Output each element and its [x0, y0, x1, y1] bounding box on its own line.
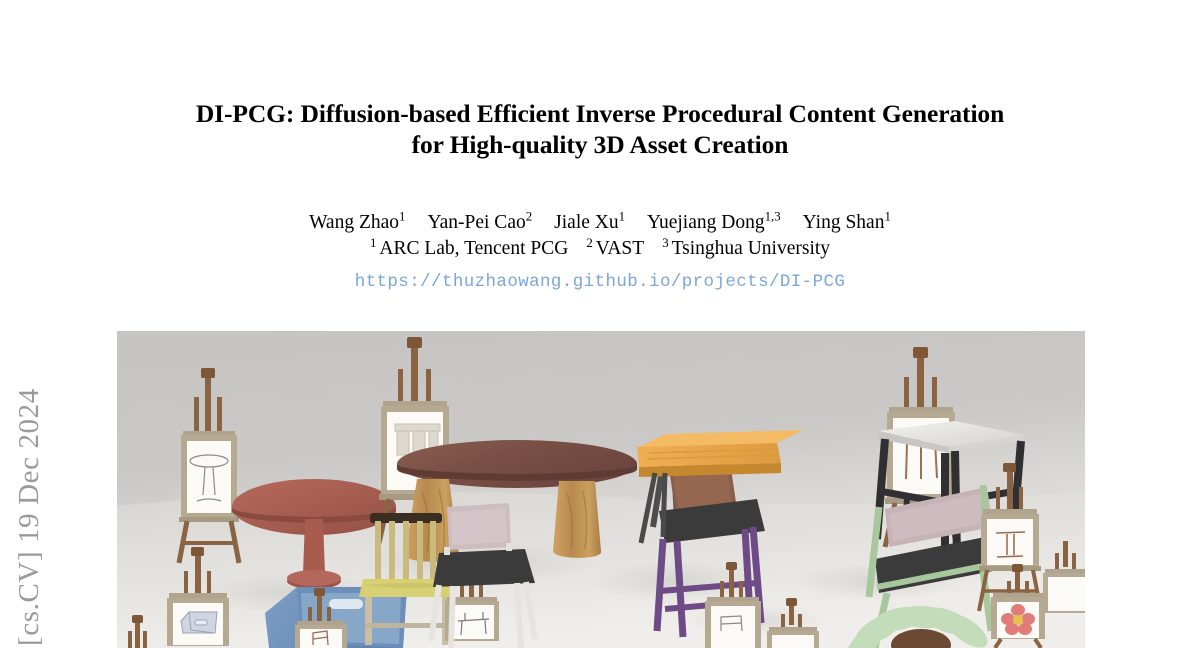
paper-title-line-1: DI-PCG: Diffusion-based Efficient Invers… — [100, 98, 1100, 129]
affiliation-marker: 2 — [586, 236, 592, 250]
authors-block: Wang Zhao1Yan-Pei Cao2Jiale Xu1Yuejiang … — [100, 210, 1100, 261]
author-entry: Yuejiang Dong1,3 — [647, 210, 781, 235]
author-affil-marker: 1 — [619, 210, 625, 224]
affiliation-entry: 2VAST — [586, 236, 644, 261]
affiliation-marker: 3 — [662, 236, 668, 250]
sketch-basket — [181, 612, 217, 633]
teaser-figure — [117, 331, 1085, 648]
affiliation-list: 1ARC Lab, Tencent PCG2VAST3Tsinghua Univ… — [100, 236, 1100, 261]
page-title: DI-PCG: Diffusion-based Efficient Invers… — [100, 98, 1100, 160]
author-name: Wang Zhao — [309, 212, 399, 233]
affiliation-marker: 1 — [370, 236, 376, 250]
affiliation-name: ARC Lab, Tencent PCG — [379, 238, 568, 259]
author-name: Ying Shan — [803, 212, 885, 233]
author-entry: Jiale Xu1 — [554, 210, 625, 235]
teaser-scene — [117, 331, 1085, 648]
author-entry: Ying Shan1 — [803, 210, 891, 235]
paper-title-line-2: for High-quality 3D Asset Creation — [100, 129, 1100, 160]
author-name: Yuejiang Dong — [647, 212, 765, 233]
author-list: Wang Zhao1Yan-Pei Cao2Jiale Xu1Yuejiang … — [100, 210, 1100, 235]
author-entry: Yan-Pei Cao2 — [427, 210, 532, 235]
author-affil-marker: 1 — [884, 210, 890, 224]
author-affil-marker: 1 — [399, 210, 405, 224]
author-name: Yan-Pei Cao — [427, 212, 525, 233]
author-affil-marker: 1,3 — [765, 210, 781, 224]
affiliation-name: VAST — [596, 238, 644, 259]
trunk-leg-right — [553, 481, 601, 558]
author-name: Jiale Xu — [554, 212, 618, 233]
project-url-link[interactable]: https://thuzhaowang.github.io/projects/D… — [355, 272, 846, 292]
affiliation-entry: 3Tsinghua University — [662, 236, 830, 261]
author-entry: Wang Zhao1 — [309, 210, 405, 235]
project-url-line: https://thuzhaowang.github.io/projects/D… — [100, 272, 1100, 292]
affiliation-name: Tsinghua University — [672, 238, 830, 259]
affiliation-entry: 1ARC Lab, Tencent PCG — [370, 236, 568, 261]
author-affil-marker: 2 — [526, 210, 532, 224]
paper-page: DI-PCG: Diffusion-based Efficient Invers… — [0, 0, 1200, 648]
basket-handle-cutout — [329, 599, 363, 609]
